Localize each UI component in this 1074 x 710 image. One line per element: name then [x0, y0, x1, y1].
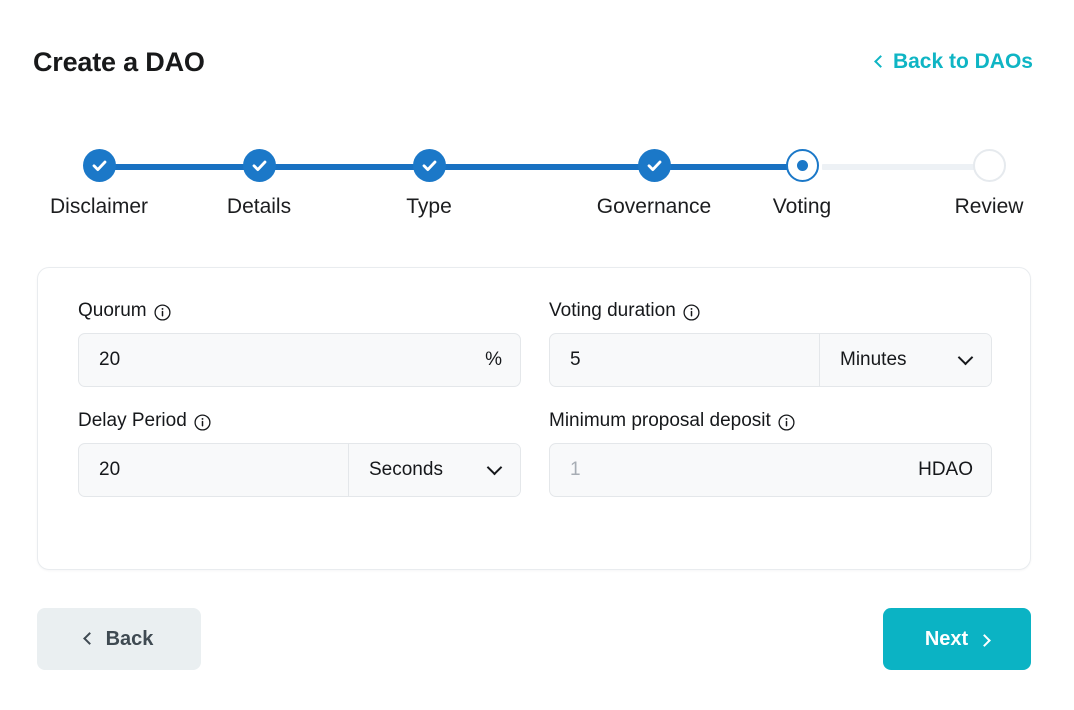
- chevron-right-icon: [978, 634, 991, 647]
- stepper-segment-3: [429, 164, 654, 170]
- field-label-minimum-proposal-deposit: Minimum proposal deposit: [549, 409, 992, 433]
- stepper-node-type[interactable]: [407, 143, 451, 187]
- delay-period-unit-select[interactable]: Seconds: [348, 444, 520, 496]
- stepper-labels: Disclaimer Details Type Governance Votin…: [33, 193, 1033, 227]
- voting-duration-unit-label: Minutes: [840, 349, 907, 371]
- delay-period-text-part: [79, 444, 348, 496]
- field-label-delay-period-text: Delay Period: [78, 409, 187, 433]
- voting-settings-fields: Quorum %: [78, 299, 992, 497]
- page-title: Create a DAO: [33, 45, 205, 79]
- delay-period-control: Seconds: [78, 443, 521, 497]
- stepper-node-disclaimer[interactable]: [77, 143, 121, 187]
- dot-icon-inner: [797, 160, 808, 171]
- field-label-voting-duration-text: Voting duration: [549, 299, 676, 323]
- stepper-label-disclaimer: Disclaimer: [50, 193, 148, 221]
- field-quorum: Quorum %: [78, 299, 521, 387]
- info-icon[interactable]: [194, 414, 211, 431]
- stepper-node-details[interactable]: [237, 143, 281, 187]
- stepper-label-governance: Governance: [597, 193, 711, 221]
- info-icon[interactable]: [683, 304, 700, 321]
- voting-duration-unit-select[interactable]: Minutes: [819, 334, 991, 386]
- chevron-left-icon: [83, 632, 96, 645]
- field-label-quorum-text: Quorum: [78, 299, 147, 323]
- field-minimum-proposal-deposit: Minimum proposal deposit HDAO: [549, 409, 992, 497]
- stepper-label-details: Details: [227, 193, 291, 221]
- minimum-proposal-deposit-suffix: HDAO: [906, 459, 973, 481]
- info-icon[interactable]: [778, 414, 795, 431]
- back-to-daos-label: Back to DAOs: [893, 50, 1033, 74]
- quorum-control: %: [78, 333, 521, 387]
- quorum-input[interactable]: [99, 348, 473, 372]
- field-label-minimum-proposal-deposit-text: Minimum proposal deposit: [549, 409, 771, 433]
- next-button-label: Next: [925, 628, 968, 651]
- back-button[interactable]: Back: [37, 608, 201, 670]
- voting-settings-card: Quorum %: [37, 267, 1031, 570]
- check-icon: [638, 149, 671, 182]
- stepper-track: [33, 143, 1033, 191]
- field-label-voting-duration: Voting duration: [549, 299, 992, 323]
- stepper-segment-2: [259, 164, 429, 170]
- stepper-node-review[interactable]: [967, 143, 1011, 187]
- voting-duration-control: Minutes: [549, 333, 992, 387]
- field-label-quorum: Quorum: [78, 299, 521, 323]
- back-to-daos-link[interactable]: Back to DAOs: [876, 50, 1033, 74]
- field-voting-duration: Voting duration Minutes: [549, 299, 992, 387]
- quorum-suffix: %: [473, 349, 502, 371]
- dot-icon: [786, 149, 819, 182]
- stepper-label-review: Review: [955, 193, 1024, 221]
- chevron-down-icon: [958, 349, 974, 365]
- info-icon[interactable]: [154, 304, 171, 321]
- page-header: Create a DAO Back to DAOs: [33, 42, 1033, 82]
- stepper-label-voting: Voting: [773, 193, 831, 221]
- back-button-label: Back: [106, 628, 154, 651]
- field-label-delay-period: Delay Period: [78, 409, 521, 433]
- field-delay-period: Delay Period Seconds: [78, 409, 521, 497]
- minimum-proposal-deposit-text-part: HDAO: [550, 444, 991, 496]
- voting-duration-input[interactable]: [570, 348, 801, 372]
- check-icon: [413, 149, 446, 182]
- wizard-footer: Back Next: [37, 607, 1031, 671]
- delay-period-input[interactable]: [99, 458, 330, 482]
- stepper-segment-1: [99, 164, 259, 170]
- quorum-text-part: %: [79, 334, 520, 386]
- stepper-segment-5: [822, 164, 989, 170]
- delay-period-unit-label: Seconds: [369, 459, 443, 481]
- stepper-node-governance[interactable]: [632, 143, 676, 187]
- voting-duration-text-part: [550, 334, 819, 386]
- check-icon: [83, 149, 116, 182]
- stepper-node-voting[interactable]: [780, 143, 824, 187]
- chevron-down-icon: [487, 459, 503, 475]
- minimum-proposal-deposit-input[interactable]: [570, 458, 906, 482]
- chevron-left-icon: [874, 55, 887, 68]
- check-icon: [243, 149, 276, 182]
- create-dao-voting-page: Create a DAO Back to DAOs: [0, 0, 1074, 710]
- progress-stepper: Disclaimer Details Type Governance Votin…: [33, 143, 1033, 235]
- minimum-proposal-deposit-control: HDAO: [549, 443, 992, 497]
- empty-circle-icon: [973, 149, 1006, 182]
- next-button[interactable]: Next: [883, 608, 1031, 670]
- stepper-label-type: Type: [406, 193, 452, 221]
